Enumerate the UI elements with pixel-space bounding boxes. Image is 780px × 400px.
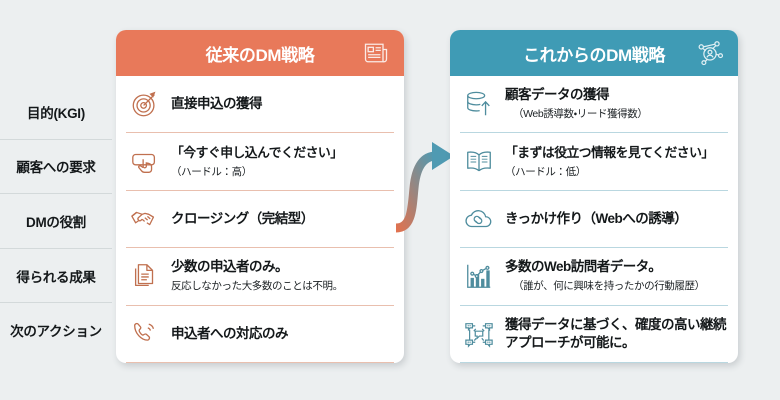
row-text: 多数のWeb訪問者データ。 （誰が、何に興味を持ったかの行動履歴） bbox=[505, 258, 726, 294]
row-main-text: 獲得データに基づく、確度の高い継続アプローチが可能に。 bbox=[505, 317, 726, 350]
row-label-column: 目的(KGI) 顧客への要求 DMの役割 得られる成果 次のアクション bbox=[0, 85, 112, 357]
table-row: 顧客データの獲得 （Web誘導数・リード獲得数） bbox=[460, 76, 728, 133]
table-row: 多数のWeb訪問者データ。 （誰が、何に興味を持ったかの行動履歴） bbox=[460, 248, 728, 305]
network-user-icon bbox=[696, 39, 724, 67]
table-row: 「まずは役立つ情報を見てください」 （ハードル：低） bbox=[460, 133, 728, 190]
row-main-text: 「まずは役立つ情報を見てください」 bbox=[505, 145, 714, 160]
row-sub-text: （ハードル：低） bbox=[505, 166, 586, 178]
row-main-text: 顧客データの獲得 bbox=[505, 87, 609, 102]
row-text: 「まずは役立つ情報を見てください」 （ハードル：低） bbox=[505, 144, 726, 180]
table-row: 「今すぐ申し込んでください」 （ハードル：高） bbox=[126, 133, 394, 190]
database-up-icon bbox=[462, 87, 496, 121]
panel-traditional-header: 従来のDM戦略 bbox=[116, 30, 404, 76]
panel-modern-title: これからのDM戦略 bbox=[523, 41, 665, 66]
table-row: 申込者への対応のみ bbox=[126, 306, 394, 363]
table-row: 少数の申込者のみ。 反応しなかった大多数のことは不明。 bbox=[126, 248, 394, 305]
table-row: クロージング（完結型） bbox=[126, 191, 394, 248]
cloud-link-icon bbox=[462, 202, 496, 236]
row-text: 「今すぐ申し込んでください」 （ハードル：高） bbox=[171, 144, 392, 180]
row-text: 顧客データの獲得 （Web誘導数・リード獲得数） bbox=[505, 86, 726, 122]
row-main-text: 申込者への対応のみ bbox=[171, 326, 288, 341]
row-label-dm-role: DMの役割 bbox=[0, 194, 112, 249]
row-main-text: 「今すぐ申し込んでください」 bbox=[171, 145, 343, 160]
row-main-text: クロージング（完結型） bbox=[171, 211, 314, 226]
row-main-text: 直接申込の獲得 bbox=[171, 96, 262, 111]
bar-chart-icon bbox=[462, 259, 496, 293]
documents-icon bbox=[128, 259, 162, 293]
panel-modern-rows: 顧客データの獲得 （Web誘導数・リード獲得数） 「まずは役立つ情報を見てくださ… bbox=[450, 76, 738, 363]
panel-traditional-dm: 従来のDM戦略 直接申込の獲得 bbox=[116, 30, 404, 363]
row-sub-text: （誰が、何に興味を持ったかの行動履歴） bbox=[505, 280, 705, 292]
row-text: 獲得データに基づく、確度の高い継続アプローチが可能に。 bbox=[505, 316, 726, 352]
row-label-next-action: 次のアクション bbox=[0, 303, 112, 357]
panel-traditional-title: 従来のDM戦略 bbox=[206, 41, 315, 66]
row-main-text: 少数の申込者のみ。 bbox=[171, 259, 288, 274]
row-main-text: 多数のWeb訪問者データ。 bbox=[505, 259, 661, 274]
row-sub-text: （ハードル：高） bbox=[171, 166, 252, 178]
row-sub-text: （Web誘導数・リード獲得数） bbox=[505, 108, 647, 120]
row-label-customer-ask: 顧客への要求 bbox=[0, 140, 112, 195]
row-text: 少数の申込者のみ。 反応しなかった大多数のことは不明。 bbox=[171, 258, 392, 294]
handshake-icon bbox=[128, 202, 162, 236]
row-sub-text: 反応しなかった大多数のことは不明。 bbox=[171, 280, 343, 292]
panel-traditional-rows: 直接申込の獲得 「今すぐ申し込んでください」 （ハードル：高） bbox=[116, 76, 404, 363]
row-label-purpose: 目的(KGI) bbox=[0, 85, 112, 140]
phone-ring-icon bbox=[128, 317, 162, 351]
panel-modern-dm: これからのDM戦略 bbox=[450, 30, 738, 363]
table-row: 獲得データに基づく、確度の高い継続アプローチが可能に。 bbox=[460, 306, 728, 363]
comparison-diagram: 目的(KGI) 顧客への要求 DMの役割 得られる成果 次のアクション 従来のD… bbox=[0, 0, 780, 400]
row-main-text: きっかけ作り（Webへの誘導） bbox=[505, 211, 687, 226]
row-text: 申込者への対応のみ bbox=[171, 325, 392, 343]
table-row: きっかけ作り（Webへの誘導） bbox=[460, 191, 728, 248]
open-book-icon bbox=[462, 145, 496, 179]
panel-modern-header: これからのDM戦略 bbox=[450, 30, 738, 76]
row-text: クロージング（完結型） bbox=[171, 210, 392, 228]
target-icon bbox=[128, 87, 162, 121]
table-row: 直接申込の獲得 bbox=[126, 76, 394, 133]
newspaper-icon bbox=[362, 39, 390, 67]
chat-network-icon bbox=[462, 317, 496, 351]
tap-button-icon bbox=[128, 145, 162, 179]
row-text: 直接申込の獲得 bbox=[171, 95, 392, 113]
row-text: きっかけ作り（Webへの誘導） bbox=[505, 210, 726, 228]
row-label-outcome: 得られる成果 bbox=[0, 249, 112, 304]
transition-arrow bbox=[396, 130, 458, 240]
